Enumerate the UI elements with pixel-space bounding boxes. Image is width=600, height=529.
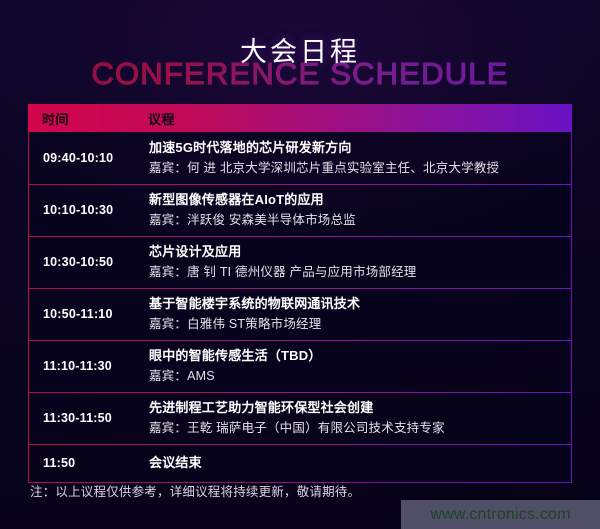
row-agenda: 先进制程工艺助力智能环保型社会创建 嘉宾：王乾 瑞萨电子（中国）有限公司技术支持… bbox=[137, 394, 571, 441]
watermark-band: www.cntronics.com bbox=[401, 500, 600, 529]
table-row: 10:30-10:50 芯片设计及应用 嘉宾：唐 钊 TI 德州仪器 产品与应用… bbox=[29, 236, 571, 288]
page-title: 大会日程 bbox=[0, 38, 600, 68]
agenda-guest: 嘉宾：王乾 瑞萨电子（中国）有限公司技术支持专家 bbox=[149, 419, 561, 438]
row-time: 11:50 bbox=[29, 456, 137, 470]
table-row: 11:10-11:30 眼中的智能传感生活（TBD） 嘉宾：AMS bbox=[29, 340, 571, 392]
row-agenda: 眼中的智能传感生活（TBD） 嘉宾：AMS bbox=[137, 342, 571, 389]
agenda-title: 芯片设计及应用 bbox=[149, 242, 561, 262]
table-row: 11:30-11:50 先进制程工艺助力智能环保型社会创建 嘉宾：王乾 瑞萨电子… bbox=[29, 392, 571, 444]
row-agenda: 芯片设计及应用 嘉宾：唐 钊 TI 德州仪器 产品与应用市场部经理 bbox=[137, 238, 571, 285]
table-body: 09:40-10:10 加速5G时代落地的芯片研发新方向 嘉宾：何 进 北京大学… bbox=[28, 132, 572, 483]
agenda-guest: 嘉宾：唐 钊 TI 德州仪器 产品与应用市场部经理 bbox=[149, 263, 561, 282]
agenda-title: 会议结束 bbox=[149, 453, 561, 473]
row-agenda: 基于智能楼宇系统的物联网通讯技术 嘉宾：白雅伟 ST策略市场经理 bbox=[137, 290, 571, 337]
agenda-title: 新型图像传感器在AIoT的应用 bbox=[149, 190, 561, 210]
row-agenda: 新型图像传感器在AIoT的应用 嘉宾：泮跃俊 安森美半导体市场总监 bbox=[137, 186, 571, 233]
table-row: 10:10-10:30 新型图像传感器在AIoT的应用 嘉宾：泮跃俊 安森美半导… bbox=[29, 184, 571, 236]
table-header-row: 时间 议程 bbox=[28, 104, 572, 132]
agenda-guest: 嘉宾：AMS bbox=[149, 367, 561, 386]
table-row: 09:40-10:10 加速5G时代落地的芯片研发新方向 嘉宾：何 进 北京大学… bbox=[29, 132, 571, 184]
agenda-title: 基于智能楼宇系统的物联网通讯技术 bbox=[149, 294, 561, 314]
row-time: 10:50-11:10 bbox=[29, 307, 137, 321]
watermark-text: www.cntronics.com bbox=[430, 506, 570, 524]
table-row: 11:50 会议结束 bbox=[29, 444, 571, 482]
column-header-agenda: 议程 bbox=[136, 109, 572, 128]
agenda-title: 先进制程工艺助力智能环保型社会创建 bbox=[149, 398, 561, 418]
agenda-guest: 嘉宾：白雅伟 ST策略市场经理 bbox=[149, 315, 561, 334]
row-agenda: 会议结束 bbox=[137, 449, 571, 477]
footer-note: 注：以上议程仅供参考，详细议程将持续更新，敬请期待。 bbox=[30, 481, 360, 500]
row-time: 10:30-10:50 bbox=[29, 255, 137, 269]
title-block: CONFERENCE SCHEDULE CONFERENCE SCHEDULE … bbox=[0, 18, 600, 88]
schedule-poster: CONFERENCE SCHEDULE CONFERENCE SCHEDULE … bbox=[0, 0, 600, 529]
row-time: 11:10-11:30 bbox=[29, 359, 137, 373]
agenda-title: 眼中的智能传感生活（TBD） bbox=[149, 346, 561, 366]
agenda-guest: 嘉宾：泮跃俊 安森美半导体市场总监 bbox=[149, 211, 561, 230]
row-agenda: 加速5G时代落地的芯片研发新方向 嘉宾：何 进 北京大学深圳芯片重点实验室主任、… bbox=[137, 134, 571, 181]
row-time: 09:40-10:10 bbox=[29, 151, 137, 165]
agenda-title: 加速5G时代落地的芯片研发新方向 bbox=[149, 138, 561, 158]
table-row: 10:50-11:10 基于智能楼宇系统的物联网通讯技术 嘉宾：白雅伟 ST策略… bbox=[29, 288, 571, 340]
column-header-time: 时间 bbox=[28, 109, 136, 128]
row-time: 11:30-11:50 bbox=[29, 411, 137, 425]
schedule-table: 时间 议程 09:40-10:10 加速5G时代落地的芯片研发新方向 嘉宾：何 … bbox=[28, 104, 572, 483]
agenda-guest: 嘉宾：何 进 北京大学深圳芯片重点实验室主任、北京大学教授 bbox=[149, 159, 561, 178]
row-time: 10:10-10:30 bbox=[29, 203, 137, 217]
